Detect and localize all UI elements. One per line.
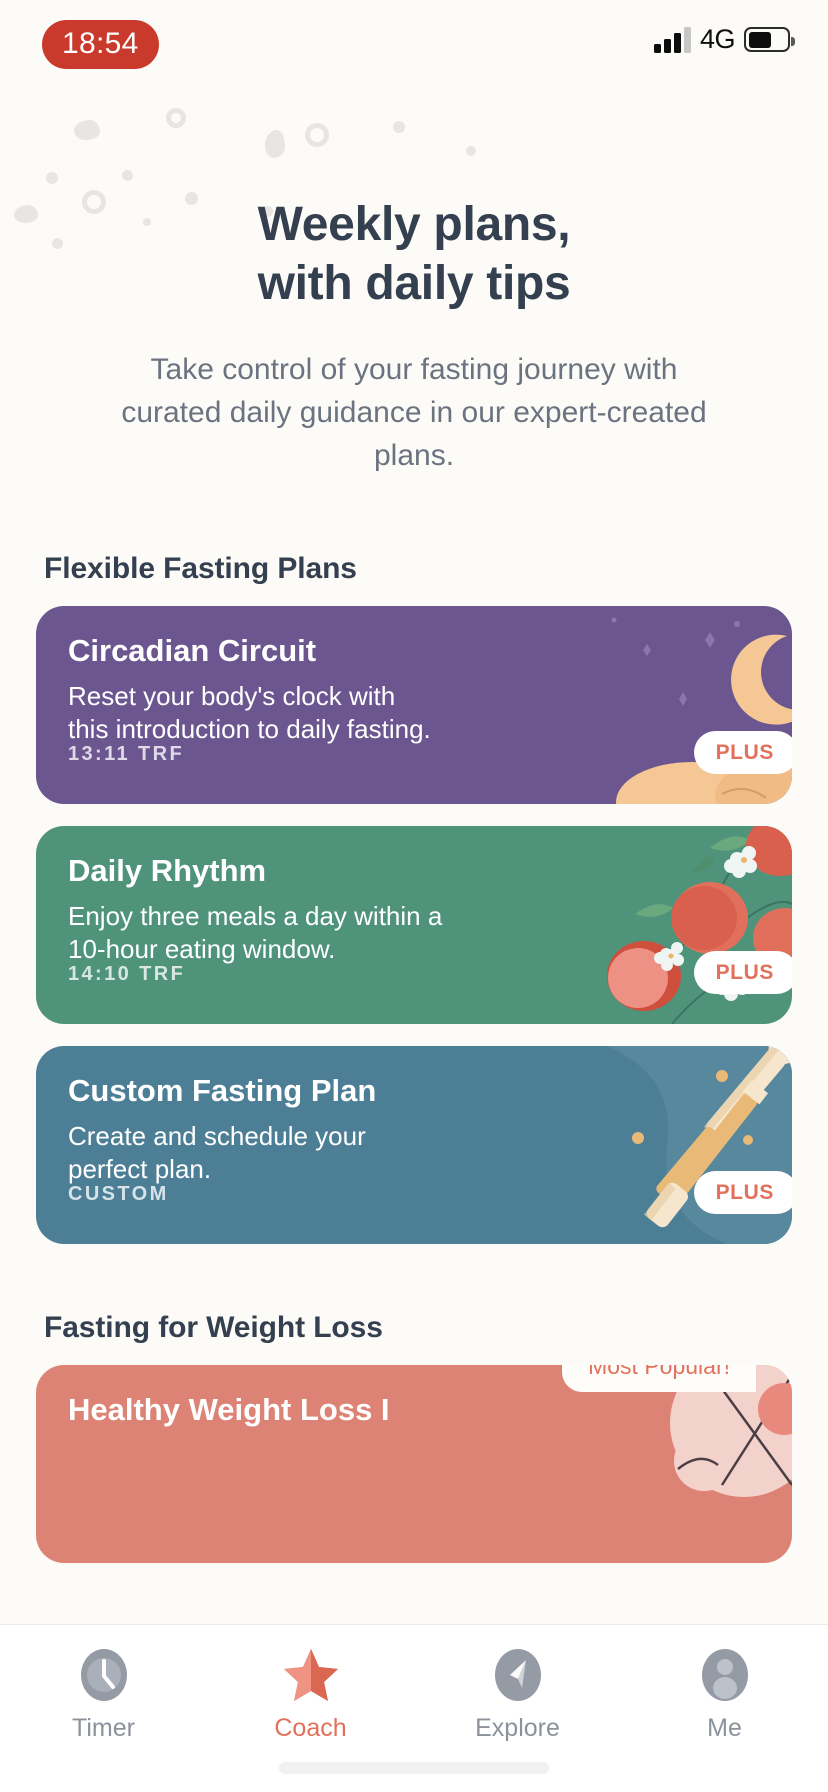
plan-desc-line2: 10-hour eating window. — [68, 934, 335, 964]
page-title-line2: with daily tips — [258, 257, 571, 310]
plan-card-title: Healthy Weight Loss I — [68, 1393, 760, 1427]
section-title: Flexible Fasting Plans — [44, 552, 828, 586]
bottom-tab-bar: Timer Coach Explore — [0, 1624, 828, 1792]
network-type-label: 4G — [700, 26, 735, 53]
tab-explore[interactable]: Explore — [414, 1647, 621, 1743]
status-indicators: 4G — [654, 26, 790, 53]
app-root: Weekly plans, with daily tips Take contr… — [0, 0, 828, 1792]
status-time: 18:54 — [42, 20, 159, 69]
section-flexible-fasting-plans: Flexible Fasting Plans — [0, 552, 828, 1266]
plan-desc-line1: Enjoy three meals a day within a — [68, 901, 442, 931]
timer-clock-icon — [76, 1647, 132, 1703]
plan-card-description: Reset your body's clock with this introd… — [68, 680, 760, 747]
plus-badge[interactable]: PLUS — [694, 1171, 792, 1214]
plan-card-tag: 13:11 TRF — [68, 743, 184, 766]
compass-icon — [490, 1647, 546, 1703]
section-fasting-for-weight-loss: Fasting for Weight Loss Most Popular! He… — [0, 1311, 828, 1585]
plan-desc-line2: this introduction to daily fasting. — [68, 714, 431, 744]
plan-card-title: Custom Fasting Plan — [68, 1074, 760, 1108]
plan-card-description: Enjoy three meals a day within a 10-hour… — [68, 900, 760, 967]
battery-icon — [744, 27, 790, 52]
tab-label: Explore — [475, 1714, 560, 1743]
section-title: Fasting for Weight Loss — [44, 1311, 828, 1345]
page-title-line1: Weekly plans, — [258, 198, 571, 251]
most-popular-badge: Most Popular! — [562, 1365, 756, 1392]
plus-badge[interactable]: PLUS — [694, 951, 792, 994]
home-indicator[interactable] — [279, 1762, 549, 1774]
status-bar: 18:54 4G — [0, 0, 828, 88]
tab-me[interactable]: Me — [621, 1647, 828, 1743]
plan-card-tag: CUSTOM — [68, 1183, 169, 1206]
plan-desc-line1: Reset your body's clock with — [68, 681, 395, 711]
plan-card-title: Daily Rhythm — [68, 854, 760, 888]
page-subtitle: Take control of your fasting journey wit… — [104, 349, 724, 478]
plan-desc-line2: perfect plan. — [68, 1154, 211, 1184]
tab-label: Timer — [72, 1714, 135, 1743]
plan-card-description: Create and schedule your perfect plan. — [68, 1120, 760, 1187]
plan-card-custom-fasting-plan[interactable]: Custom Fasting Plan Create and schedule … — [36, 1046, 792, 1244]
star-icon — [283, 1647, 339, 1703]
plan-card-circadian-circuit[interactable]: Circadian Circuit Reset your body's cloc… — [36, 606, 792, 804]
tab-coach[interactable]: Coach — [207, 1647, 414, 1743]
plus-badge[interactable]: PLUS — [694, 731, 792, 774]
person-avatar-icon — [697, 1647, 753, 1703]
plan-card-daily-rhythm[interactable]: Daily Rhythm Enjoy three meals a day wit… — [36, 826, 792, 1024]
tab-timer[interactable]: Timer — [0, 1647, 207, 1743]
plan-card-healthy-weight-loss[interactable]: Most Popular! Healthy Weight Loss I — [36, 1365, 792, 1563]
tab-label: Coach — [274, 1714, 346, 1743]
plan-desc-line1: Create and schedule your — [68, 1121, 366, 1151]
plan-card-tag: 14:10 TRF — [68, 963, 185, 986]
signal-bars-icon — [654, 27, 691, 53]
tab-label: Me — [707, 1714, 742, 1743]
plan-card-title: Circadian Circuit — [68, 634, 760, 668]
